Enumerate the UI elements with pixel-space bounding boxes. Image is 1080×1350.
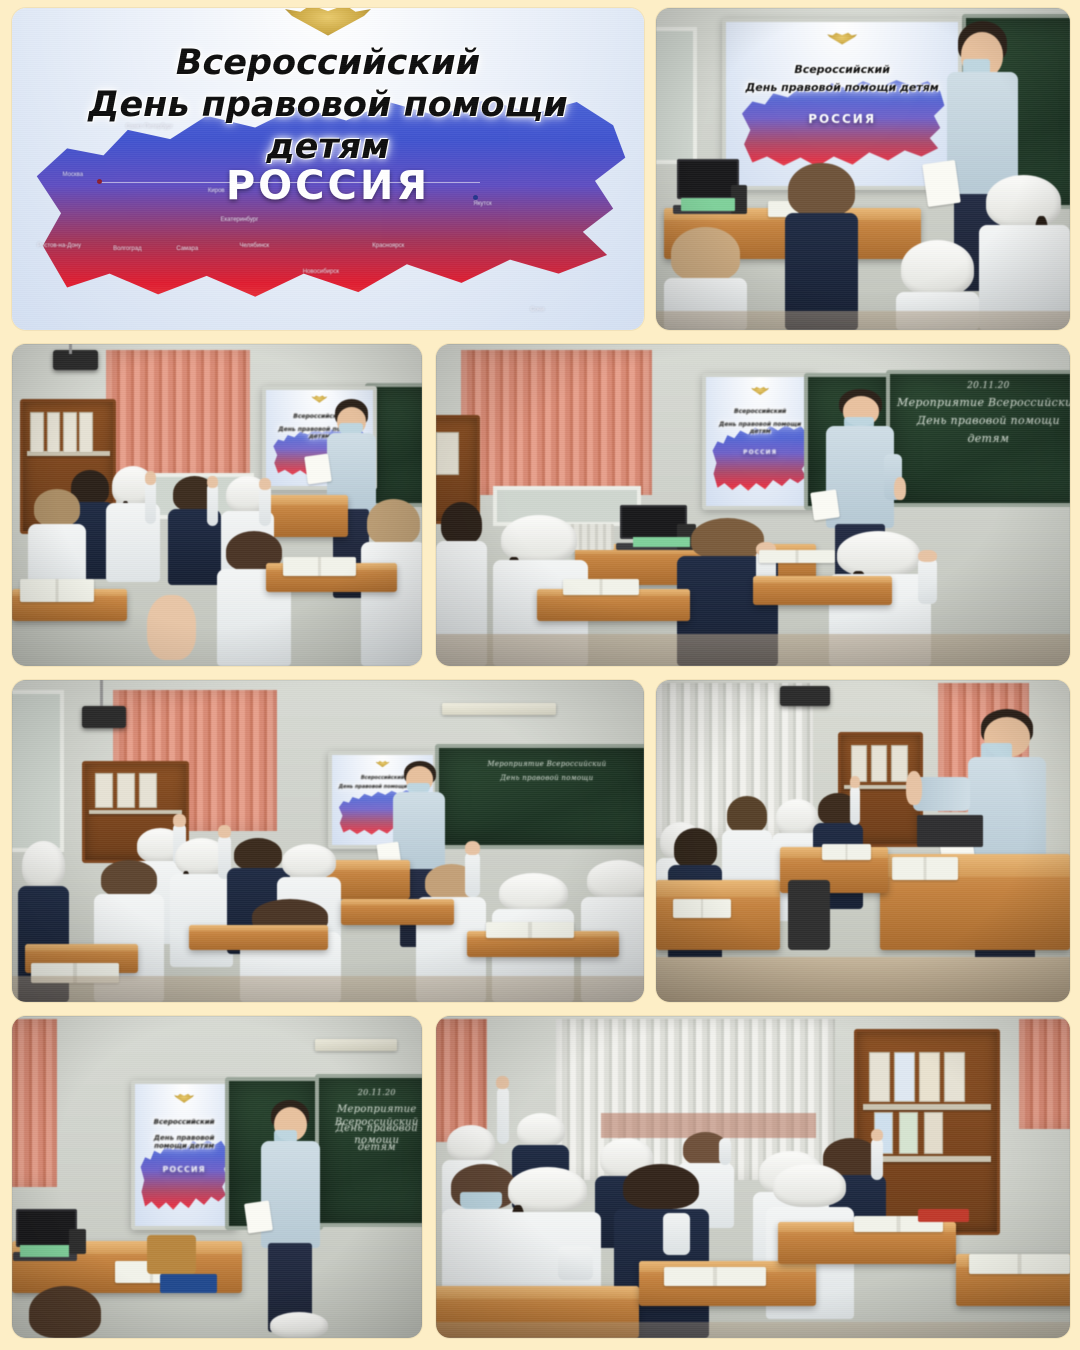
raised-arm	[207, 483, 218, 527]
chalkboard-with-topic: 20.11.20 Мероприятие Всероссийский День …	[315, 1074, 422, 1227]
raised-hand-foreground	[147, 595, 196, 659]
route-node	[97, 179, 102, 184]
russian-double-headed-eagle-icon	[376, 760, 390, 767]
hair	[34, 489, 80, 526]
hair	[727, 796, 767, 833]
hair	[101, 860, 157, 897]
raised-arm	[871, 1138, 884, 1180]
pupil	[979, 175, 1070, 330]
chalkboard-with-topic: 20.11.20 Мероприятие Всероссийский День …	[886, 370, 1070, 507]
window-blinds	[106, 350, 250, 482]
shelf	[89, 810, 182, 814]
book	[924, 1112, 943, 1154]
raised-arm	[719, 1138, 730, 1165]
classroom-scene: Всероссийский День правовой помощи детям…	[656, 8, 1070, 330]
raised-arm	[259, 485, 271, 527]
paper-sheet	[305, 453, 333, 484]
ceiling-lamp	[442, 703, 556, 716]
headscarf	[282, 844, 335, 879]
hand	[918, 550, 936, 562]
city-label: Волгоград	[113, 246, 141, 252]
book	[891, 745, 907, 782]
shelf	[863, 1104, 991, 1110]
book	[919, 1052, 941, 1102]
city-label: Красноярск	[372, 243, 404, 249]
hand	[894, 477, 906, 500]
panel-teacher-at-board[interactable]: Всероссийский День правовой помощи детям…	[656, 8, 1070, 330]
book	[944, 1052, 966, 1102]
city-label: Ростов-на-Дону	[37, 243, 81, 249]
headscarf	[837, 531, 920, 577]
hand	[906, 771, 922, 805]
headscarf	[270, 1312, 328, 1338]
classroom-scene: Всероссийский День правовой помощи детям	[12, 344, 422, 666]
city-label: Санкт-Петербург	[126, 124, 173, 130]
pupil-desk	[341, 899, 455, 925]
hand	[207, 476, 218, 488]
book	[30, 412, 44, 453]
projected-slide: Всероссийский День правовой помощи детям…	[135, 1084, 233, 1226]
pupil-hand-raised	[106, 466, 159, 582]
torso	[261, 1141, 320, 1248]
raised-arm	[145, 478, 157, 524]
printer	[917, 815, 983, 847]
headscarf	[587, 860, 644, 900]
panel-teacher-speaking[interactable]: Всероссийский День правовой помощи детям…	[436, 344, 1070, 666]
window-blinds	[461, 350, 651, 495]
slide-title-line2: День правовой помощи детям	[139, 1134, 230, 1151]
headscarf	[773, 1164, 846, 1207]
arm	[558, 1246, 592, 1280]
raised-arm	[465, 852, 480, 896]
window-left	[12, 690, 64, 853]
headscarf	[447, 1125, 495, 1162]
chalk-line1: Мероприятие Всероссийский	[439, 760, 644, 769]
book	[436, 432, 458, 475]
headscarf	[501, 515, 577, 563]
open-book	[563, 579, 639, 595]
paper-sheet	[810, 489, 839, 520]
headscarf	[986, 175, 1061, 228]
city-label: Самара	[176, 246, 198, 252]
book	[139, 773, 157, 808]
chalk-line3: детям	[890, 432, 1070, 446]
pen-holder	[69, 1229, 85, 1255]
hand	[465, 841, 480, 855]
open-book	[822, 844, 872, 860]
red-tray	[918, 1209, 969, 1222]
slide-title-line2: День правовой помощи детям	[711, 421, 810, 435]
slide-title-line1: Всероссийский	[37, 43, 618, 84]
book	[899, 1112, 918, 1154]
notebook-stack	[20, 1245, 69, 1258]
hand	[259, 478, 271, 490]
projected-slide: Всероссийский День правовой помощи детям…	[726, 22, 958, 186]
panel-board-closeup[interactable]: Всероссийский День правовой помощи детям…	[12, 1016, 422, 1338]
raised-arm	[918, 558, 936, 604]
interactive-whiteboard: Всероссийский День правовой помощи детям…	[131, 1080, 237, 1230]
hair	[691, 518, 764, 559]
pupil	[24, 1286, 106, 1338]
classroom-scene: Всероссийский День правовой помощи детям…	[436, 344, 1070, 666]
floor	[436, 634, 1070, 666]
russian-double-headed-eagle-icon	[827, 32, 857, 45]
slide-title-line1: Всероссийский	[139, 1118, 230, 1126]
book	[894, 1052, 916, 1102]
slide-title-line2: День правовой помощи детям	[736, 82, 949, 95]
window-blinds-far-right	[1019, 1019, 1070, 1128]
floor	[436, 1322, 1070, 1338]
slide-title-line1: Всероссийский	[711, 408, 810, 415]
hand	[218, 825, 231, 838]
pupil	[217, 531, 291, 666]
slide-country-label: РОССИЯ	[726, 112, 958, 126]
book	[95, 773, 113, 808]
floor	[656, 311, 1070, 330]
hair	[234, 838, 282, 870]
panel-teacher-gesturing[interactable]	[656, 680, 1070, 1002]
russian-double-headed-eagle-icon	[174, 1093, 194, 1103]
window	[656, 27, 697, 164]
headscarf	[499, 873, 568, 912]
chair	[788, 880, 829, 951]
paper-sheet	[922, 159, 960, 206]
projector	[53, 350, 98, 369]
chalk-line2: День правовой помощи	[890, 414, 1070, 428]
classroom-scene: Всероссийский День правовой помощи детям…	[12, 1016, 422, 1338]
russian-double-headed-eagle-icon	[751, 386, 769, 395]
slide-surface: Всероссийский День правовой помощи детям…	[12, 8, 644, 330]
open-book	[673, 899, 731, 918]
open-book	[283, 557, 357, 576]
open-book	[759, 550, 835, 563]
hand	[173, 814, 186, 827]
raised-arm	[850, 786, 860, 825]
teacher	[258, 1100, 324, 1332]
book	[79, 412, 93, 453]
chalkboard: Мероприятие Всероссийский День правовой …	[435, 744, 644, 849]
hair	[788, 163, 854, 217]
open-book	[892, 857, 958, 880]
chalk-date: 20.11.20	[319, 1088, 422, 1098]
city-label: Москва	[63, 172, 83, 178]
ceiling-lamp	[315, 1039, 397, 1052]
pupil-desk	[189, 925, 328, 951]
headscarf	[22, 841, 64, 889]
pupil-hand-raised	[168, 476, 221, 585]
paper-sheet	[244, 1200, 273, 1233]
pupil-desk	[753, 576, 892, 605]
chalk-date: 20.11.20	[890, 381, 1070, 392]
hair	[29, 1286, 101, 1338]
book	[871, 745, 887, 782]
chalk-line2: День правовой помощи	[439, 774, 644, 783]
headscarf	[517, 1113, 565, 1148]
notebook-stack	[681, 198, 735, 211]
projector-mount	[100, 680, 103, 706]
folder	[160, 1274, 217, 1293]
open-book	[969, 1254, 1070, 1273]
classroom-scene: Всероссийский День правовой помощи детям…	[12, 680, 644, 1002]
book	[63, 412, 77, 453]
projector	[82, 706, 126, 729]
panel-pupils-raising-hands[interactable]: Всероссийский День правовой помощи детям	[12, 344, 422, 666]
torso	[170, 874, 233, 967]
city-label: Екатеринбург	[221, 217, 259, 223]
face-mask	[460, 1192, 501, 1209]
floor	[656, 957, 1070, 1002]
city-label: Киров	[208, 188, 225, 194]
interactive-whiteboard: Всероссийский День правовой помощи детям…	[702, 373, 818, 510]
chalk-line3: детям	[319, 1142, 422, 1155]
slide-title-line2: День правовой помощи детям	[37, 85, 618, 168]
classroom-scene	[656, 680, 1070, 1002]
hair	[623, 1164, 699, 1209]
torso	[361, 542, 423, 666]
slide-country-label: РОССИЯ	[12, 163, 644, 209]
book	[117, 773, 135, 808]
panel-wide-classroom[interactable]: Всероссийский День правовой помощи детям…	[12, 680, 644, 1002]
hand	[850, 776, 860, 788]
hair	[671, 227, 741, 281]
open-book	[20, 579, 94, 602]
slide-country-label: РОССИЯ	[135, 1165, 233, 1174]
city-label: Якутск	[473, 201, 491, 207]
city-label: Новосибирск	[303, 269, 339, 275]
route-line	[100, 182, 479, 183]
window-blinds-far-left	[436, 1019, 487, 1141]
headscarf	[901, 240, 974, 296]
hair	[674, 828, 717, 868]
pupil	[780, 163, 863, 330]
slide-title-line1: Всероссийский	[736, 64, 949, 77]
projector-mount	[69, 344, 72, 354]
classroom-scene	[436, 1016, 1070, 1338]
chalk-line1: Мероприятие Всероссийский	[890, 396, 1070, 410]
headscarf	[776, 799, 818, 836]
city-label: Сочи	[530, 307, 544, 313]
slide-country-label: РОССИЯ	[706, 449, 814, 456]
hand	[496, 1076, 509, 1090]
arm	[663, 1213, 690, 1255]
photo-collage: Всероссийский День правовой помощи детям…	[0, 0, 1080, 1350]
open-book	[486, 922, 574, 938]
pupil	[266, 1312, 332, 1338]
russian-double-headed-eagle-icon	[285, 8, 371, 36]
panel-pupils-seated[interactable]	[436, 1016, 1070, 1338]
floor	[12, 976, 644, 1002]
hand	[145, 471, 157, 485]
book	[869, 1052, 891, 1102]
hand	[871, 1129, 884, 1141]
projected-slide: Всероссийский День правовой помощи детям…	[706, 377, 814, 506]
window-blinds	[12, 1019, 57, 1186]
hair	[367, 499, 419, 546]
panel-title-slide[interactable]: Всероссийский День правовой помощи детям…	[12, 8, 644, 330]
hair	[441, 502, 482, 545]
book	[47, 412, 61, 453]
city-label: Челябинск	[240, 243, 270, 249]
chair	[147, 1235, 196, 1274]
projector	[780, 686, 830, 705]
open-book	[664, 1267, 765, 1286]
